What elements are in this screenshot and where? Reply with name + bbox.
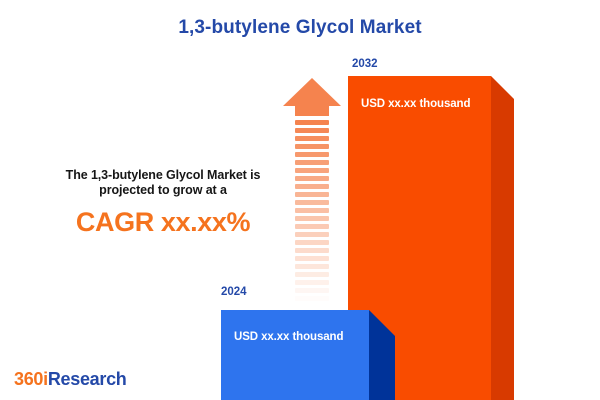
arrow-stripe — [295, 208, 329, 213]
arrow-stripe — [295, 272, 329, 277]
arrow-stripe — [295, 200, 329, 205]
arrow-stripe — [295, 120, 329, 125]
arrow-stripe — [295, 264, 329, 269]
arrow-stripe — [295, 296, 329, 301]
up-arrow-icon — [283, 78, 341, 300]
arrow-stripe — [295, 152, 329, 157]
arrow-stripe — [295, 232, 329, 237]
arrow-stripe — [295, 168, 329, 173]
arrow-stripe — [295, 224, 329, 229]
bar-year-label-2032: 2032 — [352, 58, 378, 70]
bar-2024-front-face: USD xx.xx thousand — [221, 310, 369, 400]
page-title: 1,3-butylene Glycol Market — [0, 17, 600, 39]
arrow-stripe — [295, 256, 329, 261]
bar-2024-side-face — [369, 310, 395, 400]
bar-2024: USD xx.xx thousand — [221, 310, 395, 400]
bar-2032-side-face — [491, 76, 514, 400]
arrow-head-icon — [283, 78, 341, 108]
arrow-stripe — [295, 144, 329, 149]
bar-year-label-2024: 2024 — [221, 286, 247, 298]
arrow-stripe — [295, 248, 329, 253]
arrow-stripe — [295, 280, 329, 285]
statement-text: The 1,3-butylene Glycol Market is projec… — [40, 168, 286, 198]
arrow-stripe — [295, 160, 329, 165]
logo-text-research: Research — [48, 369, 127, 389]
arrow-stripe — [295, 288, 329, 293]
statement-line-2: projected to grow at a — [99, 183, 227, 197]
cagr-value: CAGR xx.xx% — [40, 207, 286, 238]
arrow-stripe — [295, 192, 329, 197]
infographic-canvas: 1,3-butylene Glycol Market The 1,3-butyl… — [0, 0, 600, 400]
arrow-stripe — [295, 216, 329, 221]
bar-2032-value-label: USD xx.xx thousand — [361, 98, 470, 110]
arrow-stripe — [295, 136, 329, 141]
arrow-stripe — [295, 176, 329, 181]
logo-text-360i: 360i — [14, 369, 48, 389]
arrow-neck — [295, 106, 329, 116]
brand-logo: 360iResearch — [14, 369, 127, 390]
bar-2024-value-label: USD xx.xx thousand — [234, 331, 343, 343]
arrow-stripe — [295, 240, 329, 245]
growth-statement: The 1,3-butylene Glycol Market is projec… — [40, 168, 286, 238]
statement-line-1: The 1,3-butylene Glycol Market is — [66, 168, 261, 182]
arrow-stripe — [295, 128, 329, 133]
arrow-stripe — [295, 184, 329, 189]
